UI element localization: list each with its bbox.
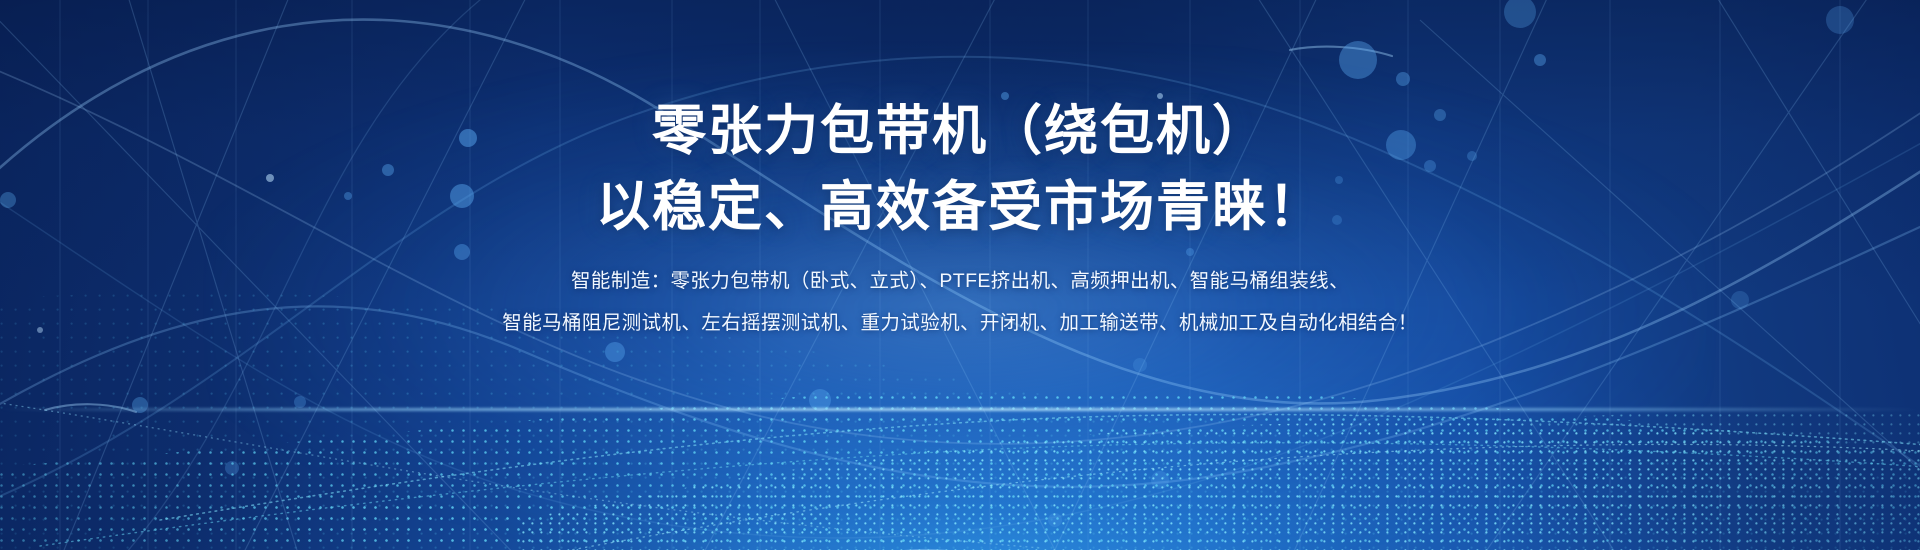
banner-subtitle-line-2: 智能马桶阻尼测试机、左右摇摆测试机、重力试验机、开闭机、加工输送带、机械加工及自… — [502, 304, 1417, 344]
banner-content: 零张力包带机（绕包机） 以稳定、高效备受市场青睐！ 智能制造：零张力包带机（卧式… — [0, 0, 1920, 550]
banner-headline-line-1: 零张力包带机（绕包机） — [652, 96, 1268, 166]
hero-banner: 零张力包带机（绕包机） 以稳定、高效备受市场青睐！ 智能制造：零张力包带机（卧式… — [0, 0, 1920, 550]
banner-headline-line-2: 以稳定、高效备受市场青睐！ — [596, 172, 1324, 242]
banner-subtitle-line-1: 智能制造：零张力包带机（卧式、立式）、PTFE挤出机、高频押出机、智能马桶组装线… — [571, 262, 1349, 302]
